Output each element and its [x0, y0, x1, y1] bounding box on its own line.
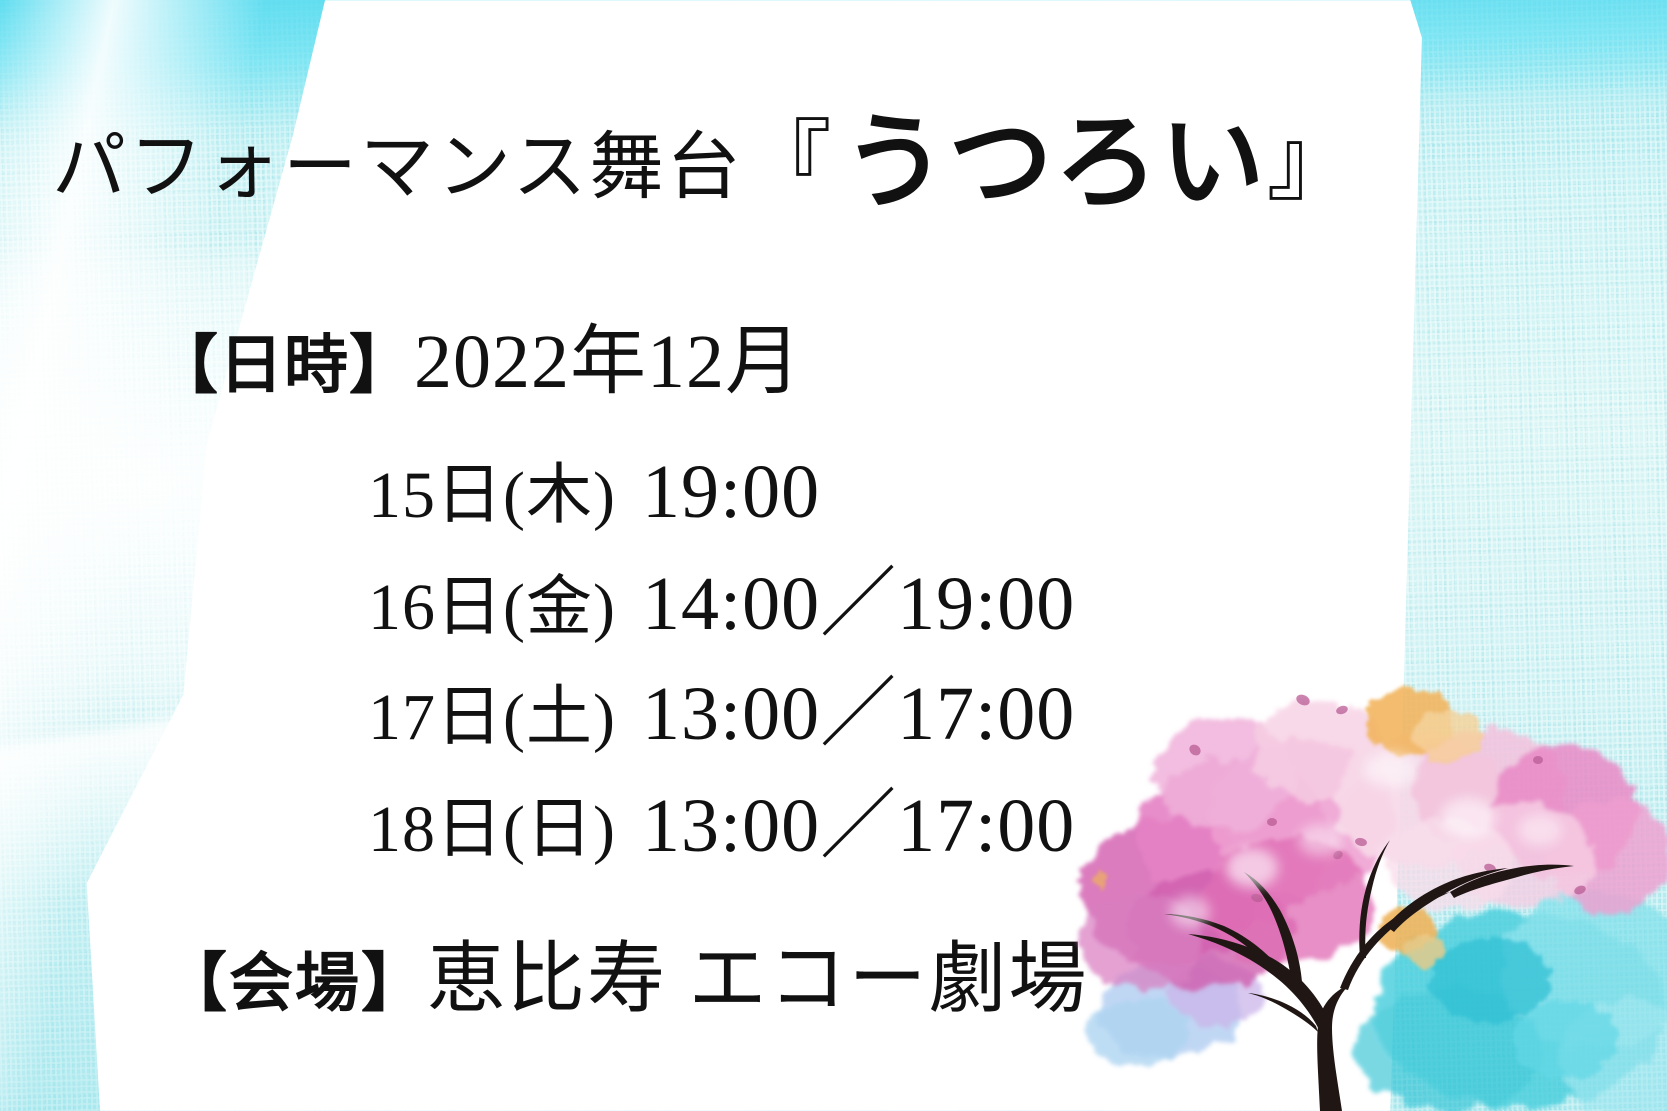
venue-label: 【会場】	[163, 947, 427, 1021]
venue-name: 恵比寿 エコー劇場	[427, 935, 1089, 1022]
work-title: うつろい	[843, 110, 1267, 214]
poster-headline: パフォーマンス舞台 『 うつろい 』	[52, 104, 1356, 208]
bracket-open-glyph: 『	[744, 120, 833, 208]
poster-canvas: パフォーマンス舞台 『 うつろい 』 【日時】2022年12月 15日(木)19…	[0, 0, 1667, 1111]
venue-line: 【会場】恵比寿 エコー劇場	[34, 862, 1089, 1096]
schedule-times: 13:00／17:00	[642, 784, 1075, 868]
schedule-day: 18日(日)	[368, 793, 616, 866]
poster-content: パフォーマンス舞台 『 うつろい 』 【日時】2022年12月 15日(木)19…	[0, 0, 1667, 1111]
bracket-close-glyph: 』	[1267, 120, 1356, 208]
headline-lead-text: パフォーマンス舞台	[52, 131, 744, 205]
